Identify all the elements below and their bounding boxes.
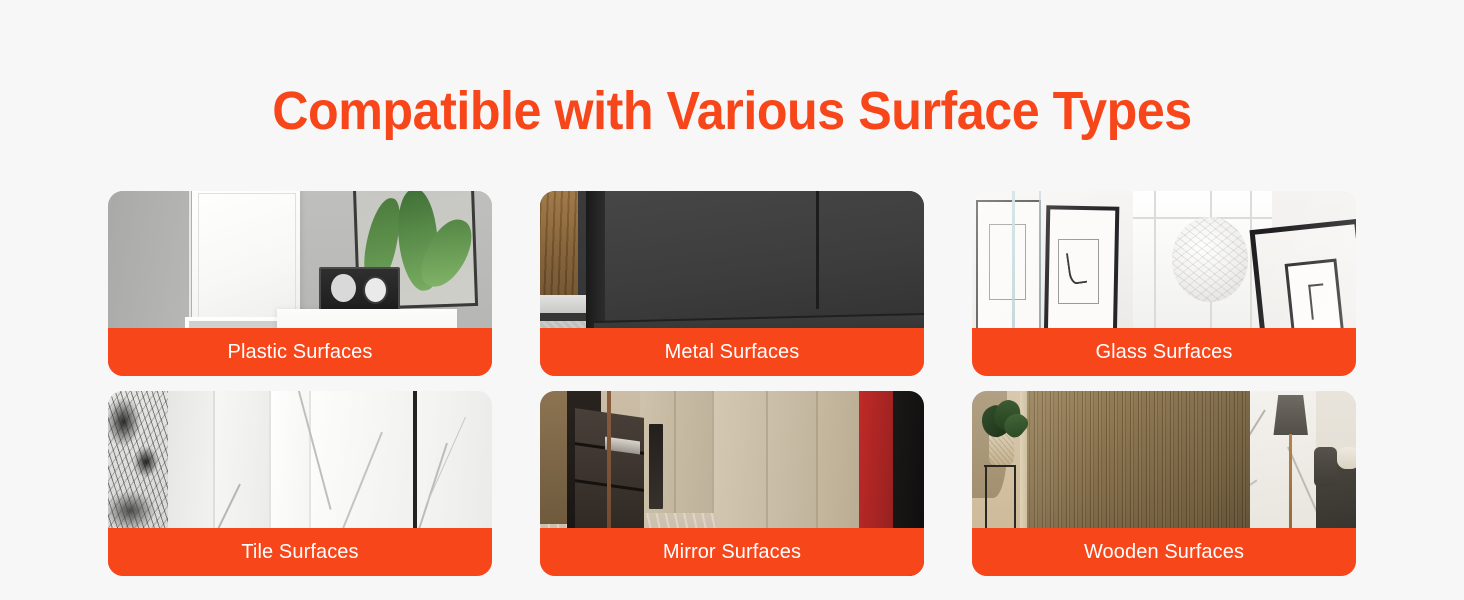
surface-card-mirror[interactable]: Mirror Surfaces: [540, 391, 924, 576]
surface-card-label-wooden: Wooden Surfaces: [972, 528, 1356, 576]
recessed-handle: [649, 424, 662, 509]
surface-card-metal[interactable]: Metal Surfaces: [540, 191, 924, 376]
surface-card-wooden[interactable]: Wooden Surfaces: [972, 391, 1356, 576]
surface-card-label-metal: Metal Surfaces: [540, 328, 924, 376]
surface-card-glass[interactable]: Glass Surfaces: [972, 191, 1356, 376]
surface-card-label-tile: Tile Surfaces: [108, 528, 492, 576]
surface-card-tile[interactable]: Tile Surfaces: [108, 391, 492, 576]
page-title: Compatible with Various Surface Types: [51, 78, 1413, 144]
page-root: Compatible with Various Surface Types: [0, 0, 1464, 600]
surface-card-plastic[interactable]: Plastic Surfaces: [108, 191, 492, 376]
surface-card-label-mirror: Mirror Surfaces: [540, 528, 924, 576]
surface-card-label-plastic: Plastic Surfaces: [108, 328, 492, 376]
surface-card-label-glass: Glass Surfaces: [972, 328, 1356, 376]
surface-types-grid: Plastic Surfaces Metal Surfaces: [108, 191, 1356, 576]
floor-lamp: [1273, 395, 1308, 436]
